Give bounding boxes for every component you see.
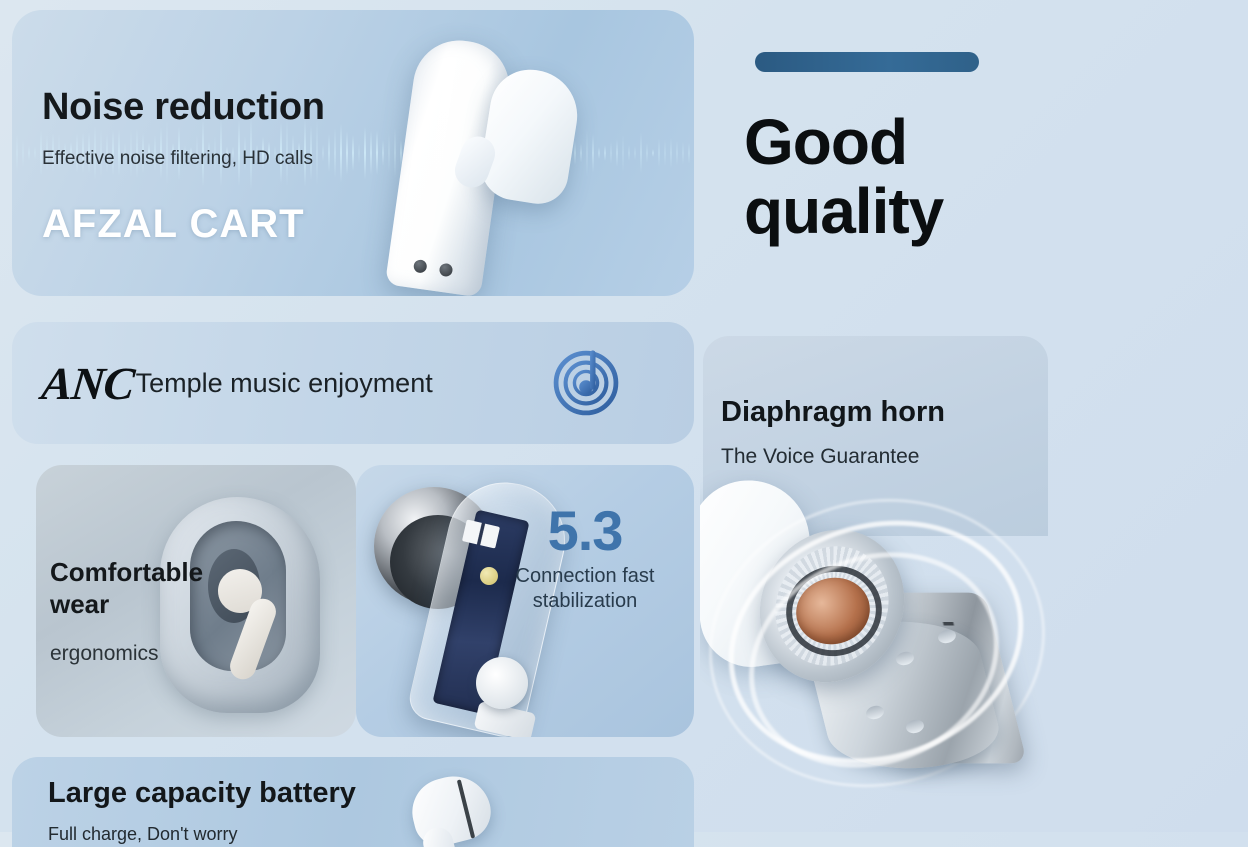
accent-bar	[755, 52, 979, 72]
anc-tagline: Temple music enjoyment	[136, 368, 433, 399]
brand-name: AFZAL CART	[42, 202, 325, 247]
earbud-image	[412, 769, 532, 847]
bluetooth-line2: stabilization	[490, 590, 680, 613]
wear-text-block: Comfortable wear ergonomics	[50, 557, 203, 666]
headline-line2: quality	[744, 175, 943, 247]
panel-battery: Large capacity battery Full charge, Don'…	[12, 757, 694, 847]
right-column: Good quality Diaphragm horn The Voice Gu…	[700, 0, 1248, 832]
panel-noise-reduction: Noise reduction Effective noise filterin…	[12, 10, 694, 296]
bluetooth-version: 5.3	[490, 503, 680, 559]
battery-title: Large capacity battery	[48, 779, 356, 808]
earbud-product-image	[390, 18, 630, 296]
anc-logo: ANC	[39, 357, 136, 410]
noise-title: Noise reduction	[42, 88, 325, 126]
anc-text-row: ANC Temple music enjoyment	[42, 322, 433, 444]
panel-anc: ANC Temple music enjoyment	[12, 322, 694, 444]
battery-text-block: Large capacity battery Full charge, Don'…	[48, 779, 356, 845]
wear-title-line1: Comfortable	[50, 557, 203, 587]
bluetooth-text-block: 5.3 Connection fast stabilization	[490, 503, 680, 613]
battery-subtitle: Full charge, Don't worry	[48, 824, 356, 845]
panel-bluetooth: 5.3 Connection fast stabilization	[356, 465, 694, 737]
diaphragm-title: Diaphragm horn	[721, 398, 945, 427]
noise-subtitle: Effective noise filtering, HD calls	[42, 148, 325, 170]
wear-title-line2: wear	[50, 589, 109, 619]
page-title: Good quality	[744, 108, 1074, 246]
panel-comfortable-wear: Comfortable wear ergonomics	[36, 465, 356, 737]
anc-sound-wave-icon	[552, 349, 620, 417]
headline-line1: Good	[744, 106, 907, 178]
bluetooth-line1: Connection fast	[490, 565, 680, 588]
wear-subtitle: ergonomics	[50, 642, 203, 666]
noise-reduction-text-block: Noise reduction Effective noise filterin…	[42, 88, 325, 247]
speaker-driver-exploded-image	[700, 470, 1060, 832]
diaphragm-text-block: Diaphragm horn The Voice Guarantee	[721, 398, 945, 469]
product-infographic: Noise reduction Effective noise filterin…	[0, 0, 1248, 832]
diaphragm-subtitle: The Voice Guarantee	[721, 445, 945, 469]
